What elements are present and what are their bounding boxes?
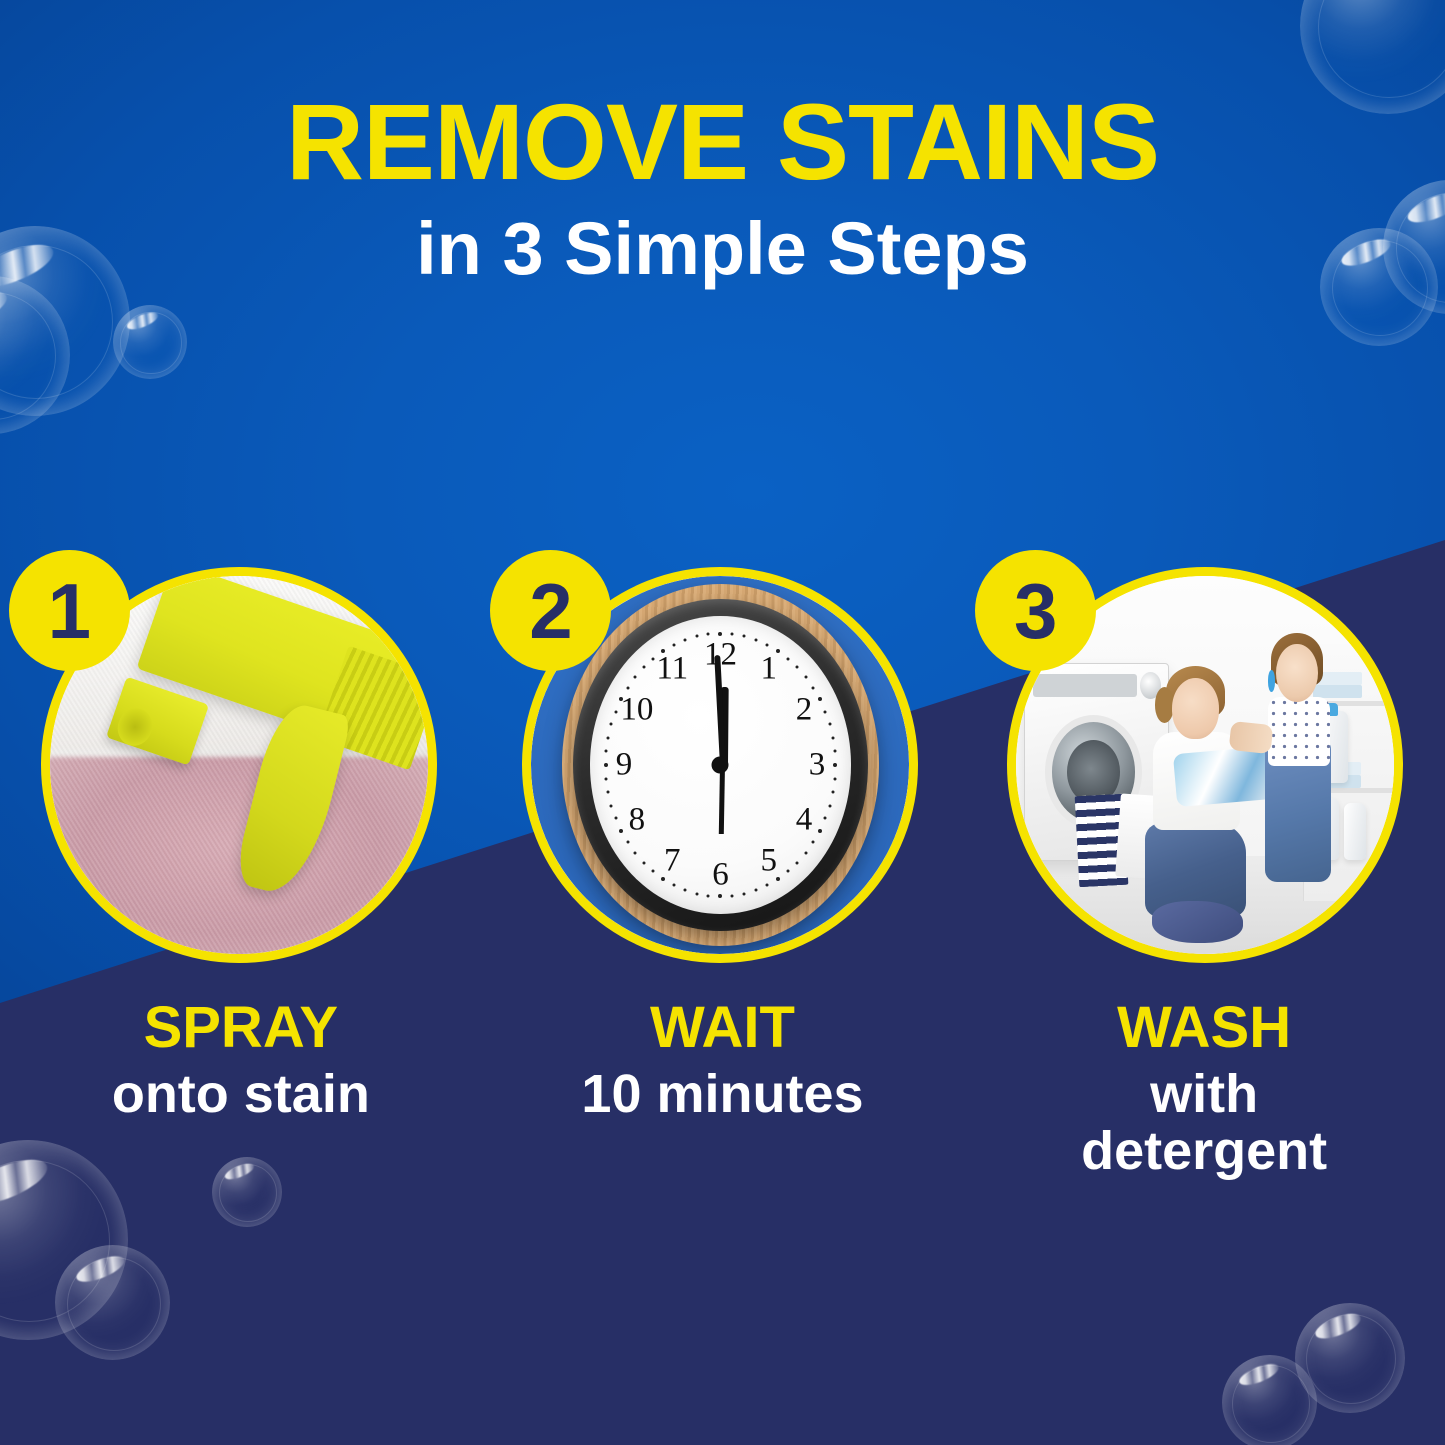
clock-minute-tick xyxy=(718,894,722,898)
clock-minute-tick xyxy=(833,750,836,753)
step-3-caption-sub-line2: detergent xyxy=(1081,1124,1327,1179)
clock-minute-tick xyxy=(684,639,687,642)
clock-minute-tick xyxy=(818,697,822,701)
clock-minute-tick xyxy=(812,841,815,844)
clock-minute-tick xyxy=(610,723,613,726)
clock-minute-tick xyxy=(804,676,807,679)
clock-numeral: 7 xyxy=(664,844,681,877)
poster-canvas: REMOVE STAINS in 3 Simple Steps xyxy=(0,0,1445,1445)
clock-minute-tick xyxy=(695,635,698,638)
clock-minute-tick xyxy=(634,851,637,854)
step-2-media: 121234567891011 2 xyxy=(522,550,922,950)
step-number-badge-1: 1 xyxy=(9,550,130,671)
clock-minute-tick xyxy=(672,643,675,646)
clock-minute-tick xyxy=(833,777,836,780)
step-2-caption: WAIT 10 minutes xyxy=(581,998,863,1122)
page-title: REMOVE STAINS xyxy=(0,88,1445,196)
clock-minute-tick xyxy=(786,870,789,873)
clock-minute-tick xyxy=(824,817,827,820)
step-2-caption-main: WAIT xyxy=(581,998,863,1057)
clock-minute-tick xyxy=(610,804,613,807)
bubble-decoration xyxy=(0,276,70,434)
clock-center-pin xyxy=(712,756,729,773)
clock-minute-tick xyxy=(614,710,617,713)
step-number-badge-3: 3 xyxy=(975,550,1096,671)
clock-minute-tick xyxy=(718,632,722,636)
clock-minute-tick xyxy=(828,723,831,726)
clock-second-hand xyxy=(719,765,725,834)
step-3-caption-main: WASH xyxy=(1081,998,1327,1057)
clock-minute-tick xyxy=(619,829,623,833)
clock-numeral: 10 xyxy=(620,693,653,726)
clock-numeral: 11 xyxy=(656,653,688,686)
clock-minute-tick xyxy=(652,870,655,873)
step-card-3: 3 WASH with detergent xyxy=(969,550,1439,1179)
clock-minute-tick xyxy=(766,884,769,887)
clock-minute-tick xyxy=(684,888,687,891)
clock-minute-tick xyxy=(642,861,645,864)
clock-minute-tick xyxy=(695,892,698,895)
clock-minute-tick xyxy=(743,892,746,895)
clock-minute-tick xyxy=(607,791,610,794)
clock-minute-tick xyxy=(786,657,789,660)
clock-minute-tick xyxy=(831,736,834,739)
clock-numeral: 1 xyxy=(760,653,777,686)
clock-minute-tick xyxy=(754,639,757,642)
clock-numeral: 8 xyxy=(629,804,646,837)
clock-numeral: 12 xyxy=(704,638,737,671)
clock-numeral: 6 xyxy=(712,859,729,892)
clock-minute-tick xyxy=(831,791,834,794)
step-1-caption: SPRAY onto stain xyxy=(112,998,370,1122)
clock-minute-tick xyxy=(804,851,807,854)
clock-minute-tick xyxy=(812,686,815,689)
clock-minute-tick xyxy=(626,686,629,689)
clock-numeral: 2 xyxy=(796,693,813,726)
clock-minute-tick xyxy=(818,829,822,833)
clock-minute-tick xyxy=(828,804,831,807)
clock-numeral: 5 xyxy=(760,844,777,877)
clock-minute-tick xyxy=(796,666,799,669)
step-3-caption: WASH with detergent xyxy=(1081,998,1327,1179)
clock-minute-tick xyxy=(754,888,757,891)
clock-minute-tick xyxy=(796,861,799,864)
clock-minute-tick xyxy=(605,750,608,753)
clock-numeral: 9 xyxy=(616,748,633,781)
step-3-caption-sub-line1: with xyxy=(1081,1067,1327,1122)
clock-minute-tick xyxy=(642,666,645,669)
clock-minute-tick xyxy=(605,777,608,780)
page-subtitle: in 3 Simple Steps xyxy=(0,212,1445,286)
bubble-decoration xyxy=(113,305,187,379)
clock-minute-tick xyxy=(652,657,655,660)
clock-numeral: 4 xyxy=(796,804,813,837)
clock-minute-tick xyxy=(743,635,746,638)
step-1-caption-sub: onto stain xyxy=(112,1067,370,1122)
clock-numeral: 3 xyxy=(809,748,826,781)
step-1-caption-main: SPRAY xyxy=(112,998,370,1057)
clock-minute-tick xyxy=(672,884,675,887)
step-card-1: 1 SPRAY onto stain xyxy=(6,550,476,1122)
clock-minute-tick xyxy=(766,643,769,646)
clock-minute-tick xyxy=(824,710,827,713)
clock-minute-tick xyxy=(626,841,629,844)
clock-minute-tick xyxy=(731,894,734,897)
clock-face: 121234567891011 xyxy=(590,616,851,915)
clock-minute-tick xyxy=(607,736,610,739)
steps-row: 1 SPRAY onto stain xyxy=(0,550,1445,1310)
clock-minute-tick xyxy=(707,894,710,897)
clock-minute-tick xyxy=(634,676,637,679)
clock-minute-tick xyxy=(614,817,617,820)
step-2-caption-sub: 10 minutes xyxy=(581,1067,863,1122)
step-3-media: 3 xyxy=(1007,550,1407,950)
step-number-badge-2: 2 xyxy=(490,550,611,671)
clock-minute-tick xyxy=(833,763,837,767)
step-card-2: 121234567891011 2 WAIT 10 minutes xyxy=(487,550,957,1122)
clock-minute-tick xyxy=(604,763,608,767)
step-1-media: 1 xyxy=(41,550,441,950)
